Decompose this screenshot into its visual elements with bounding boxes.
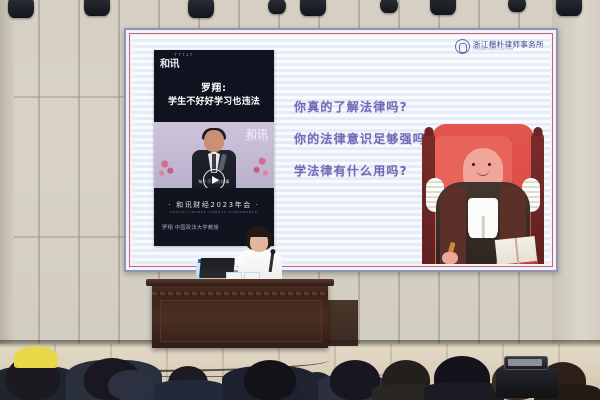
video-camera — [496, 362, 558, 398]
ceiling-spotlights — [0, 0, 600, 26]
collar-split — [482, 216, 485, 238]
thumbnail-title-band: 和讯 ↑↑↑↓↑ 罗翔: 学生不好好学习也违法 — [154, 50, 274, 122]
question-1: 你真的了解法律吗? — [294, 98, 484, 115]
judge-eye-right — [488, 163, 491, 167]
flower-decoration-left — [156, 152, 178, 182]
thumbnail-event-title: · 和讯财经2023年会 · — [154, 200, 274, 210]
flower-decoration-right — [250, 150, 272, 182]
audience-head — [244, 360, 296, 400]
yellow-cap — [14, 346, 58, 368]
judge-eye-left — [472, 163, 475, 167]
lecture-hall-photo: 浙江楷朴律师事务所 ZHEJIANG KAIPU LAW FIRM 和讯 ↑↑↑… — [0, 0, 600, 400]
photo-watermark-url: hexun.com — [244, 138, 268, 142]
hexun-brand-text: 和讯 — [160, 55, 179, 70]
thumbnail-title-line2: 学生不好好学习也违法 — [154, 94, 274, 107]
projection-screen: 浙江楷朴律师事务所 ZHEJIANG KAIPU LAW FIRM 和讯 ↑↑↑… — [124, 28, 558, 272]
audience — [0, 332, 600, 400]
judge-illustration — [422, 114, 544, 264]
law-firm-logo: 浙江楷朴律师事务所 ZHEJIANG KAIPU LAW FIRM — [455, 39, 544, 54]
open-book-icon — [495, 236, 537, 264]
hexun-brand-logo: 和讯 ↑↑↑↓↑ — [160, 55, 179, 70]
law-firm-name-en: ZHEJIANG KAIPU LAW FIRM — [473, 49, 544, 52]
video-thumbnail[interactable]: 和讯 ↑↑↑↓↑ 罗翔: 学生不好好学习也违法 和讯 hexun.com — [154, 50, 274, 246]
hexun-brand-mark: ↑↑↑↓↑ — [174, 52, 193, 57]
audience-head — [108, 370, 154, 400]
seal-icon — [455, 39, 470, 54]
audience-shoulders — [154, 380, 226, 400]
judge-hand — [442, 252, 458, 264]
thumbnail-event-subtitle: HEXUN FINANCE ANNUAL CONFERENCE — [154, 210, 274, 214]
wall-right-section — [552, 0, 600, 352]
presentation-slide: 浙江楷朴律师事务所 ZHEJIANG KAIPU LAW FIRM 和讯 ↑↑↑… — [132, 36, 550, 264]
wall-left-edge — [0, 0, 14, 352]
thumbnail-title-line1: 罗翔: — [154, 80, 274, 94]
